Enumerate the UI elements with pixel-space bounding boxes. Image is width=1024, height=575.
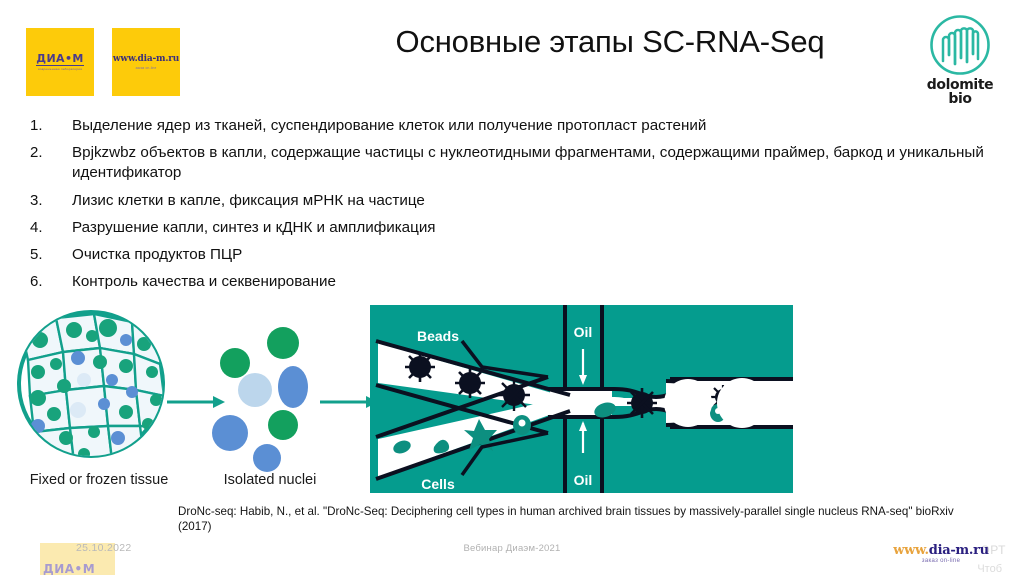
page-title: Основные этапы SC-RNA-Seq bbox=[300, 24, 920, 60]
list-item-text: Очистка продуктов ПЦР bbox=[72, 245, 995, 265]
nuclei-label: Isolated nuclei bbox=[190, 472, 350, 490]
footer-ghost-text-bottom: Чтоб bbox=[977, 563, 1002, 575]
footer-logo-domain: dia-m.ru bbox=[929, 543, 989, 558]
list-item-number: 2. bbox=[30, 143, 72, 183]
footer-logo-tagline: заказ on-line bbox=[886, 558, 996, 564]
footer-diam-word: ДИА•М bbox=[43, 562, 95, 575]
arrow-right-icon-2 bbox=[318, 392, 378, 412]
list-item: 1. Выделение ядер из тканей, суспендиров… bbox=[30, 116, 995, 136]
dolomite-wordmark: dolomite bio bbox=[914, 78, 1006, 107]
logo-website-word: www.dia-m.ru bbox=[113, 55, 179, 64]
dolomite-line-1: dolomite bbox=[914, 78, 1006, 92]
dolomite-circle-icon bbox=[929, 14, 991, 76]
chip-label-cells: Cells bbox=[421, 476, 455, 492]
tissue-label: Fixed or frozen tissue bbox=[14, 472, 184, 490]
chip-label-oil-bottom: Oil bbox=[574, 472, 593, 488]
list-item: 2. Bpjkzwbz объектов в капли, содержащие… bbox=[30, 143, 995, 183]
tissue-circle-illustration bbox=[8, 304, 188, 474]
footer-center-text: Вебинар Диаэм-2021 bbox=[0, 543, 1024, 554]
list-item-number: 4. bbox=[30, 218, 72, 238]
list-item-text: Контроль качества и секвенирование bbox=[72, 272, 995, 292]
list-item-text: Разрушение капли, синтез и кДНК и амплиф… bbox=[72, 218, 995, 238]
logo-diam: ДИА•М современная лаборатория bbox=[26, 28, 94, 96]
chip-label-oil-top: Oil bbox=[574, 324, 593, 340]
logo-diam-tagline: современная лаборатория bbox=[38, 67, 82, 71]
citation-text: DroNc-seq: Habib, N., et al. "DroNc-Seq:… bbox=[178, 504, 958, 535]
chip-label-beads: Beads bbox=[417, 328, 459, 344]
slide-canvas: ДИА•М современная лаборатория www.dia-m.… bbox=[0, 0, 1024, 575]
microfluidic-chip-diagram: Beads Cells Oil Oil bbox=[370, 305, 793, 493]
logo-diam-word: ДИА•М bbox=[36, 53, 84, 66]
workflow-figure: Beads Cells Oil Oil Fixed or frozen tiss… bbox=[0, 300, 1024, 530]
list-item-number: 5. bbox=[30, 245, 72, 265]
logo-website-tagline: заказ on-line bbox=[136, 66, 157, 70]
logo-website: www.dia-m.ru заказ on-line bbox=[112, 28, 180, 96]
list-item: 6. Контроль качества и секвенирование bbox=[30, 272, 995, 292]
isolated-nuclei-illustration bbox=[205, 325, 335, 475]
logo-dolomite-bio: dolomite bio bbox=[914, 14, 1006, 107]
list-item-text: Выделение ядер из тканей, суспендировани… bbox=[72, 116, 995, 136]
footer-logo-www: www. bbox=[893, 543, 929, 558]
dolomite-line-2: bio bbox=[914, 92, 1006, 106]
list-item-number: 6. bbox=[30, 272, 72, 292]
list-item-text: Лизис клетки в капле, фиксация мРНК на ч… bbox=[72, 191, 995, 211]
list-item: 4. Разрушение капли, синтез и кДНК и амп… bbox=[30, 218, 995, 238]
footer-logo-diam: www.dia-m.ru заказ on-line bbox=[886, 544, 996, 564]
list-item-number: 3. bbox=[30, 191, 72, 211]
steps-list: 1. Выделение ядер из тканей, суспендиров… bbox=[30, 116, 995, 300]
list-item-number: 1. bbox=[30, 116, 72, 136]
footer-logo-wordmark: www.dia-m.ru bbox=[886, 544, 996, 557]
list-item-text: Bpjkzwbz объектов в капли, содержащие ча… bbox=[72, 143, 995, 183]
list-item: 5. Очистка продуктов ПЦР bbox=[30, 245, 995, 265]
list-item: 3. Лизис клетки в капле, фиксация мРНК н… bbox=[30, 191, 995, 211]
